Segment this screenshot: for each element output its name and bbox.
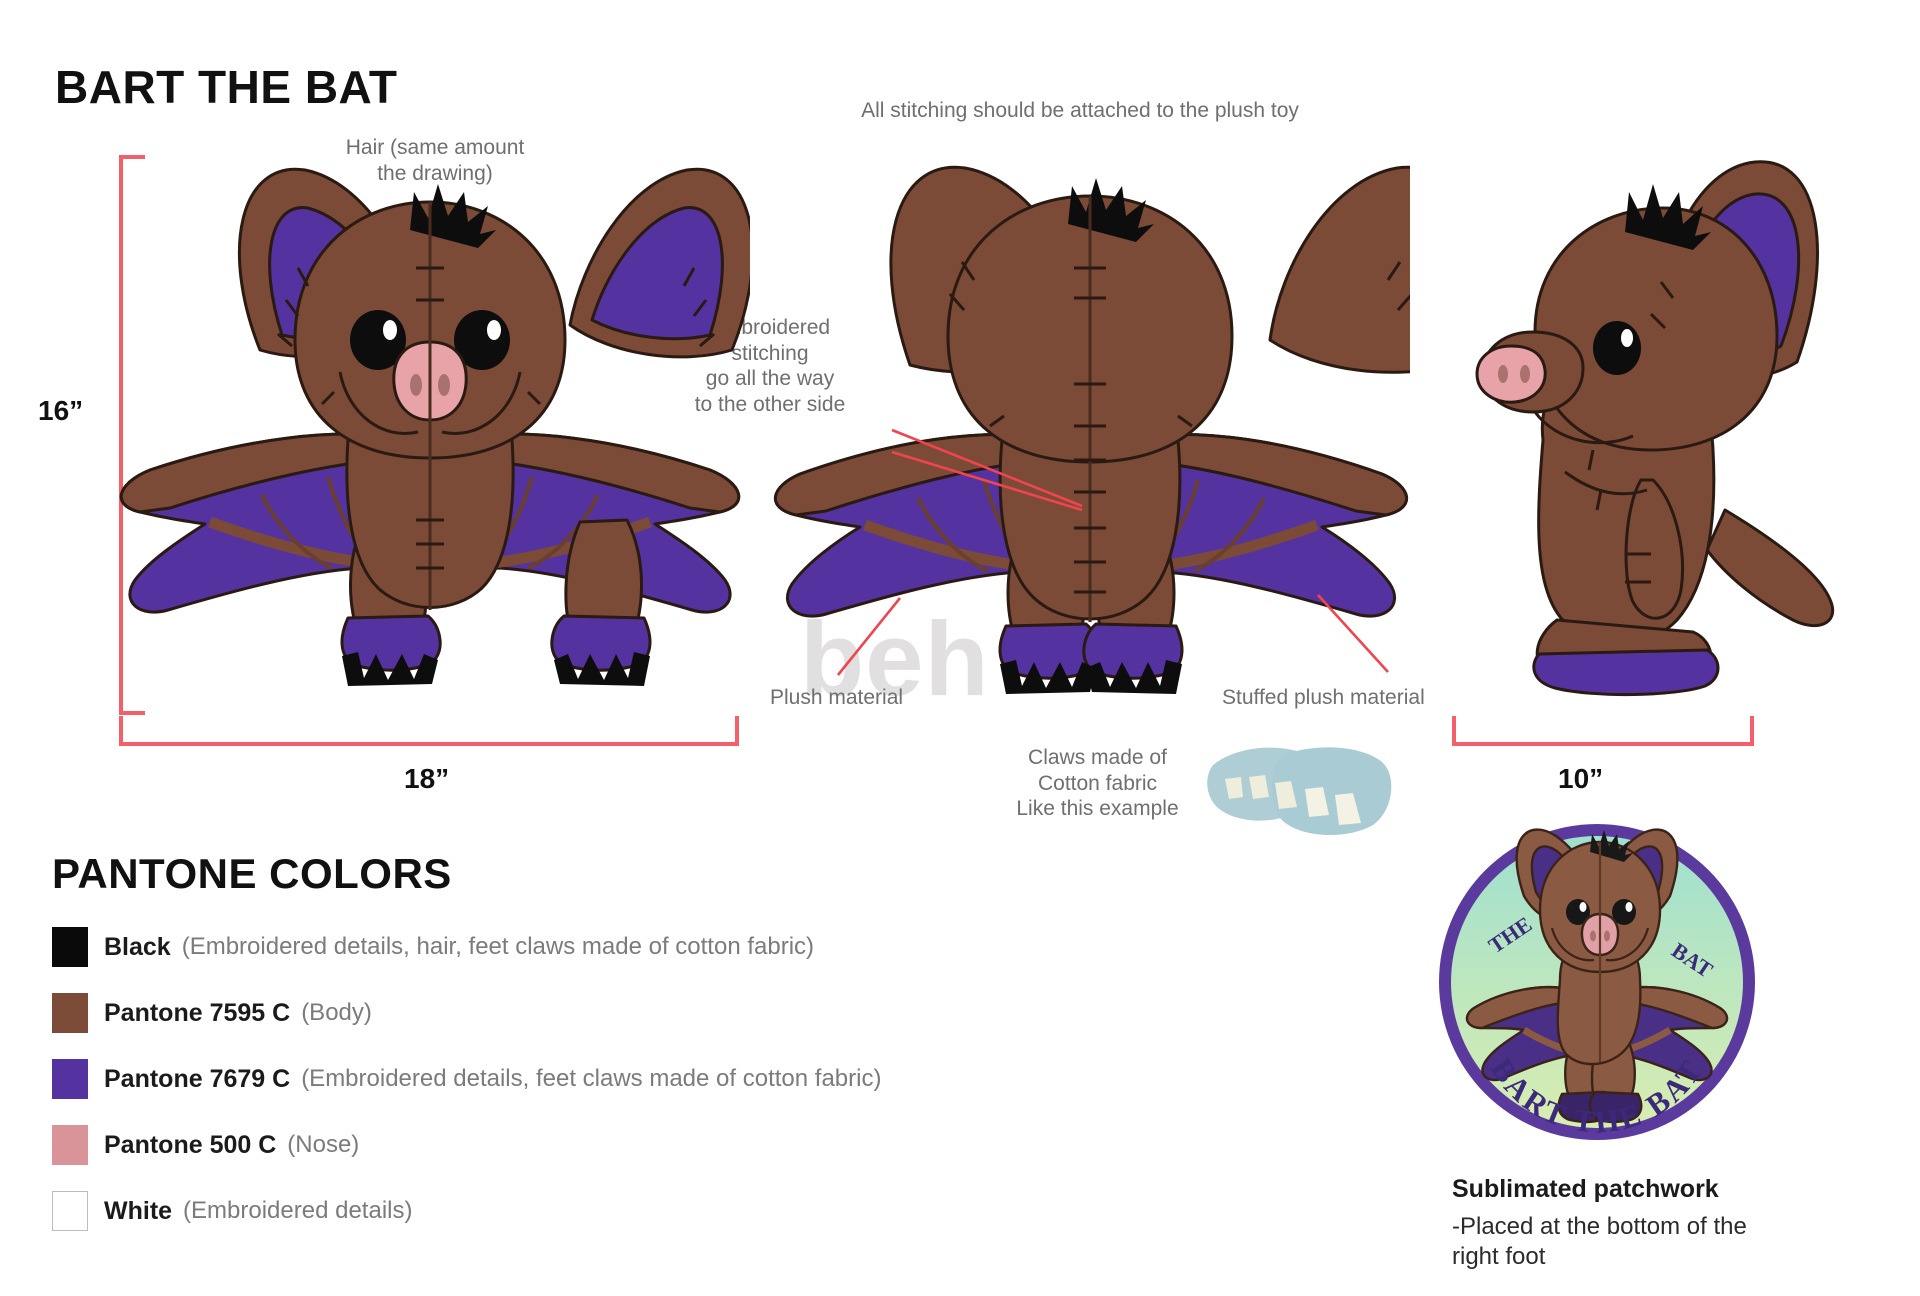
- note-stuffed-plush-material: Stuffed plush material: [1222, 685, 1522, 711]
- pantone-description: (Embroidered details): [183, 1197, 412, 1225]
- pantone-swatch-list: Black (Embroidered details, hair, feet c…: [52, 920, 1352, 1250]
- color-swatch-black: [52, 927, 88, 967]
- pantone-colors-heading: PANTONE COLORS: [52, 850, 452, 898]
- patch-caption-title: Sublimated patchwork: [1452, 1175, 1719, 1204]
- note-plush-material: Plush material: [770, 685, 1010, 711]
- color-swatch-white: [52, 1191, 88, 1231]
- claw-example-photo: [1205, 735, 1395, 845]
- pantone-name: White: [104, 1197, 172, 1226]
- pantone-description: (Embroidered details, hair, feet claws m…: [182, 933, 814, 961]
- pantone-name: Black: [104, 933, 171, 962]
- pantone-description: (Nose): [287, 1131, 359, 1159]
- pantone-row-7679c: Pantone 7679 C (Embroidered details, fee…: [52, 1052, 1352, 1106]
- pantone-name: Pantone 7595 C: [104, 999, 290, 1028]
- pantone-row-500c: Pantone 500 C (Nose): [52, 1118, 1352, 1172]
- pantone-row-7595c: Pantone 7595 C (Body): [52, 986, 1352, 1040]
- pantone-description: (Embroidered details, feet claws made of…: [301, 1065, 881, 1093]
- sublimated-patch-badge: THE BAT BART THE BAT: [1432, 812, 1762, 1152]
- pantone-row-white: White (Embroidered details): [52, 1184, 1352, 1238]
- color-swatch-pantone-7679c: [52, 1059, 88, 1099]
- color-swatch-pantone-500c: [52, 1125, 88, 1165]
- color-swatch-pantone-7595c: [52, 993, 88, 1033]
- pantone-name: Pantone 7679 C: [104, 1065, 290, 1094]
- note-claws: Claws made of Cotton fabric Like this ex…: [965, 745, 1230, 822]
- pantone-name: Pantone 500 C: [104, 1131, 276, 1160]
- pantone-row-black: Black (Embroidered details, hair, feet c…: [52, 920, 1352, 974]
- spec-sheet-canvas: BART THE BAT All stitching should be att…: [0, 0, 1920, 1296]
- pantone-description: (Body): [301, 999, 372, 1027]
- patch-caption-body: -Placed at the bottom of the right foot: [1452, 1212, 1872, 1272]
